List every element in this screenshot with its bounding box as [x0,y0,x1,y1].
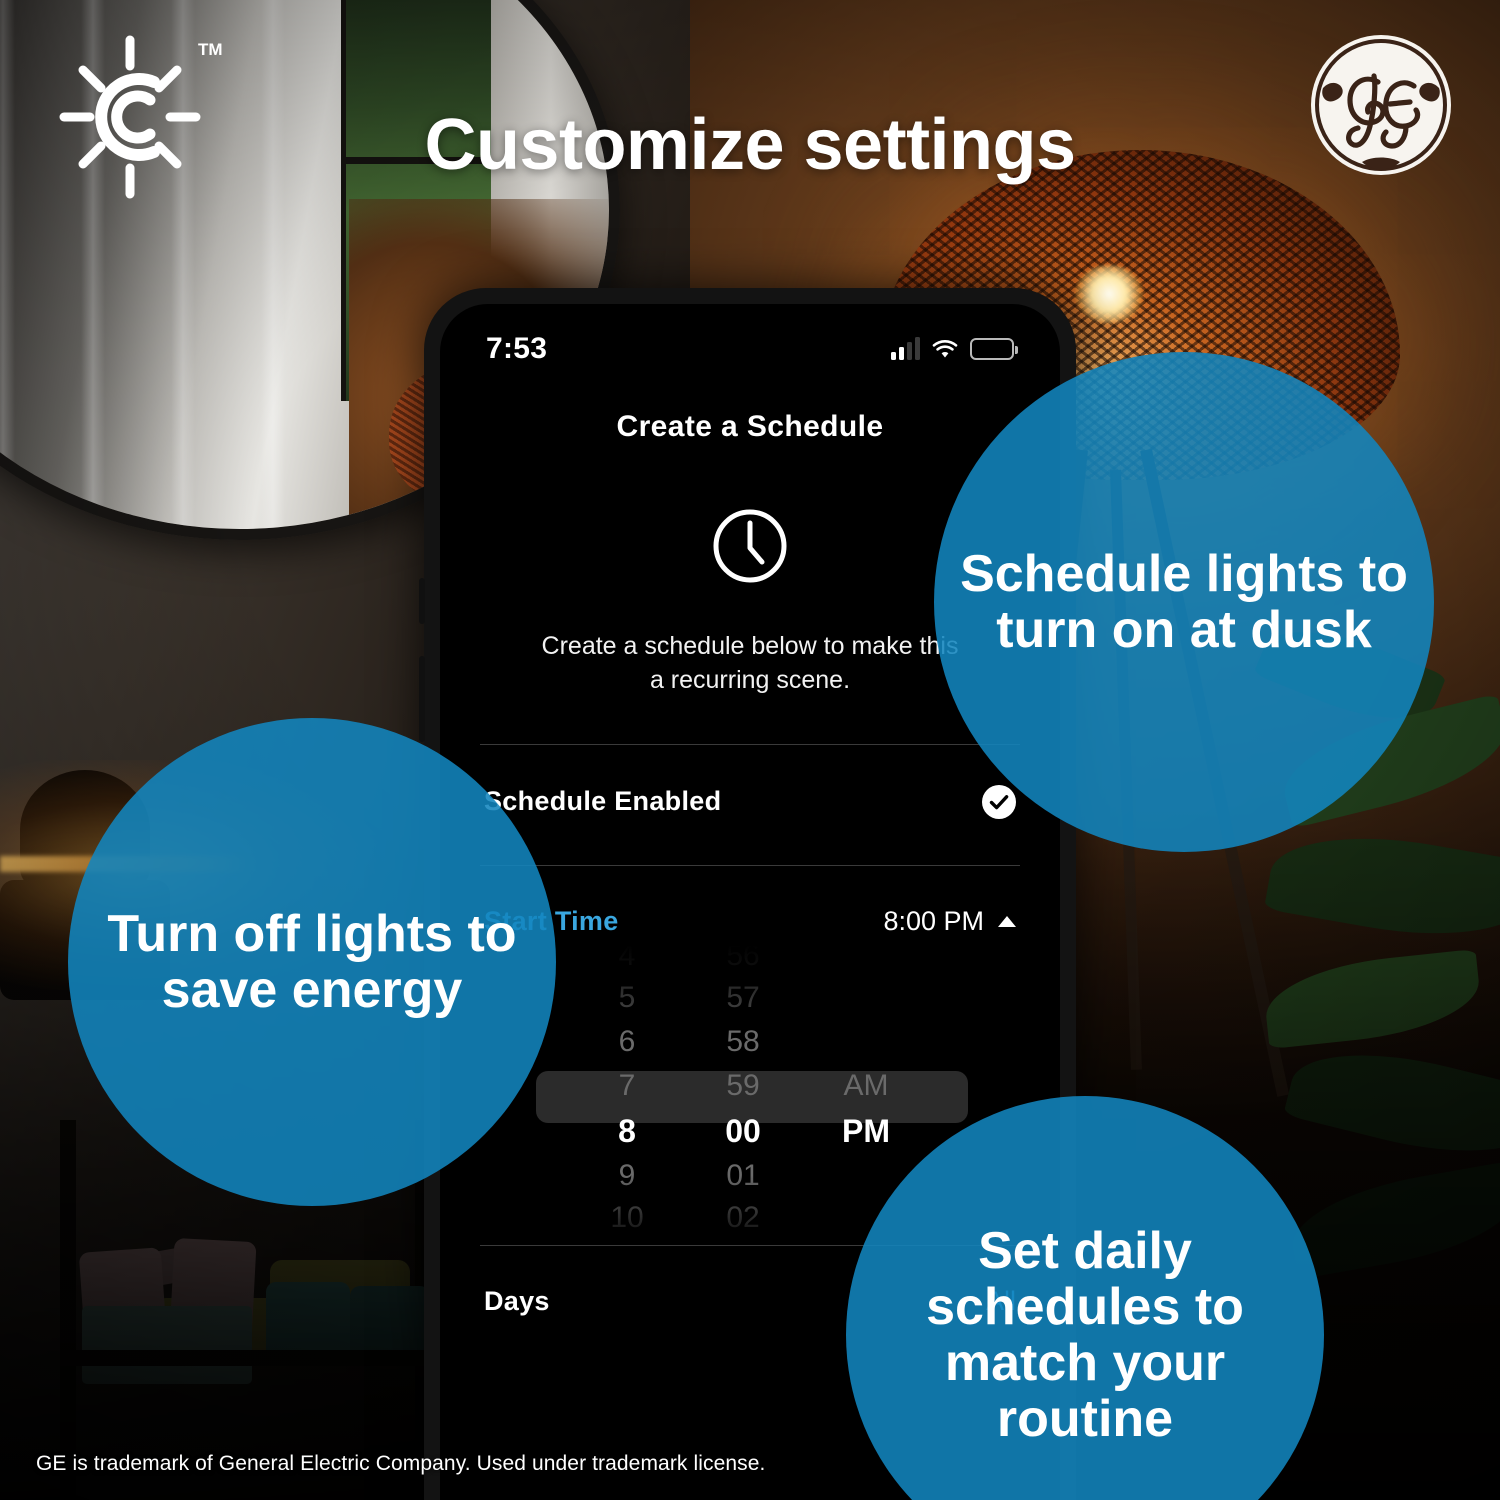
callout-turn-off-energy: Turn off lights to save energy [68,718,556,1206]
divider [480,744,1020,745]
callout-text: Schedule lights to turn on at dusk [958,546,1410,658]
wifi-icon [932,339,958,359]
clock-icon [710,506,790,586]
schedule-enabled-row[interactable]: Schedule Enabled [440,785,1060,819]
picker-cell[interactable]: 01 [685,1159,801,1193]
status-bar-time: 7:53 [486,332,547,366]
page-headline: Customize settings [0,104,1500,186]
divider [480,865,1020,866]
picker-cell[interactable]: 4 [569,945,685,973]
callout-schedule-dusk: Schedule lights to turn on at dusk [934,352,1434,852]
battery-low-power-icon [970,338,1014,360]
volume-up-button[interactable] [419,656,425,742]
picker-cell[interactable]: 56 [685,945,801,973]
mute-switch[interactable] [419,578,425,624]
picker-cell-selected[interactable]: 00 [685,1113,801,1150]
trademark-footnote: GE is trademark of General Electric Comp… [36,1452,765,1476]
picker-cell[interactable]: 03 [685,1241,801,1245]
picker-cell-selected[interactable]: PM [801,1113,931,1150]
start-time-value: 8:00 PM [883,906,984,937]
picker-cell[interactable]: 6 [569,1025,685,1059]
callout-text: Set daily schedules to match your routin… [870,1223,1300,1448]
picker-column-hours[interactable]: 4 5 6 7 8 9 10 11 [569,945,685,1245]
picker-cell-selected[interactable]: 8 [569,1113,685,1150]
promo-image-stage: 7:53 [0,0,1500,1500]
status-bar: 7:53 [440,326,1060,372]
picker-cell[interactable]: 02 [685,1201,801,1235]
picker-cell[interactable]: 59 [685,1069,801,1103]
check-circle-icon[interactable] [982,785,1016,819]
picker-cell[interactable]: 11 [569,1241,685,1245]
caret-up-icon[interactable] [998,916,1016,927]
start-time-value-group[interactable]: 8:00 PM [883,906,1016,937]
page-title: Create a Schedule [440,410,1060,444]
trademark-symbol: TM [198,40,223,60]
status-bar-indicators [891,338,1014,360]
callout-text: Turn off lights to save energy [92,906,532,1018]
days-label: Days [484,1286,550,1317]
picker-cell[interactable]: 9 [569,1159,685,1193]
picker-cell[interactable]: 7 [569,1069,685,1103]
picker-cell[interactable]: 57 [685,981,801,1015]
picker-column-minutes[interactable]: 56 57 58 59 00 01 02 03 [685,945,801,1245]
page-subtitle: Create a schedule below to make this a r… [535,630,965,698]
schedule-enabled-label: Schedule Enabled [484,786,721,817]
picker-cell[interactable]: 58 [685,1025,801,1059]
cellular-bars-icon [891,338,920,360]
picker-cell[interactable]: AM [801,1069,931,1103]
picker-cell[interactable]: 10 [569,1201,685,1235]
picker-cell[interactable]: 5 [569,981,685,1015]
